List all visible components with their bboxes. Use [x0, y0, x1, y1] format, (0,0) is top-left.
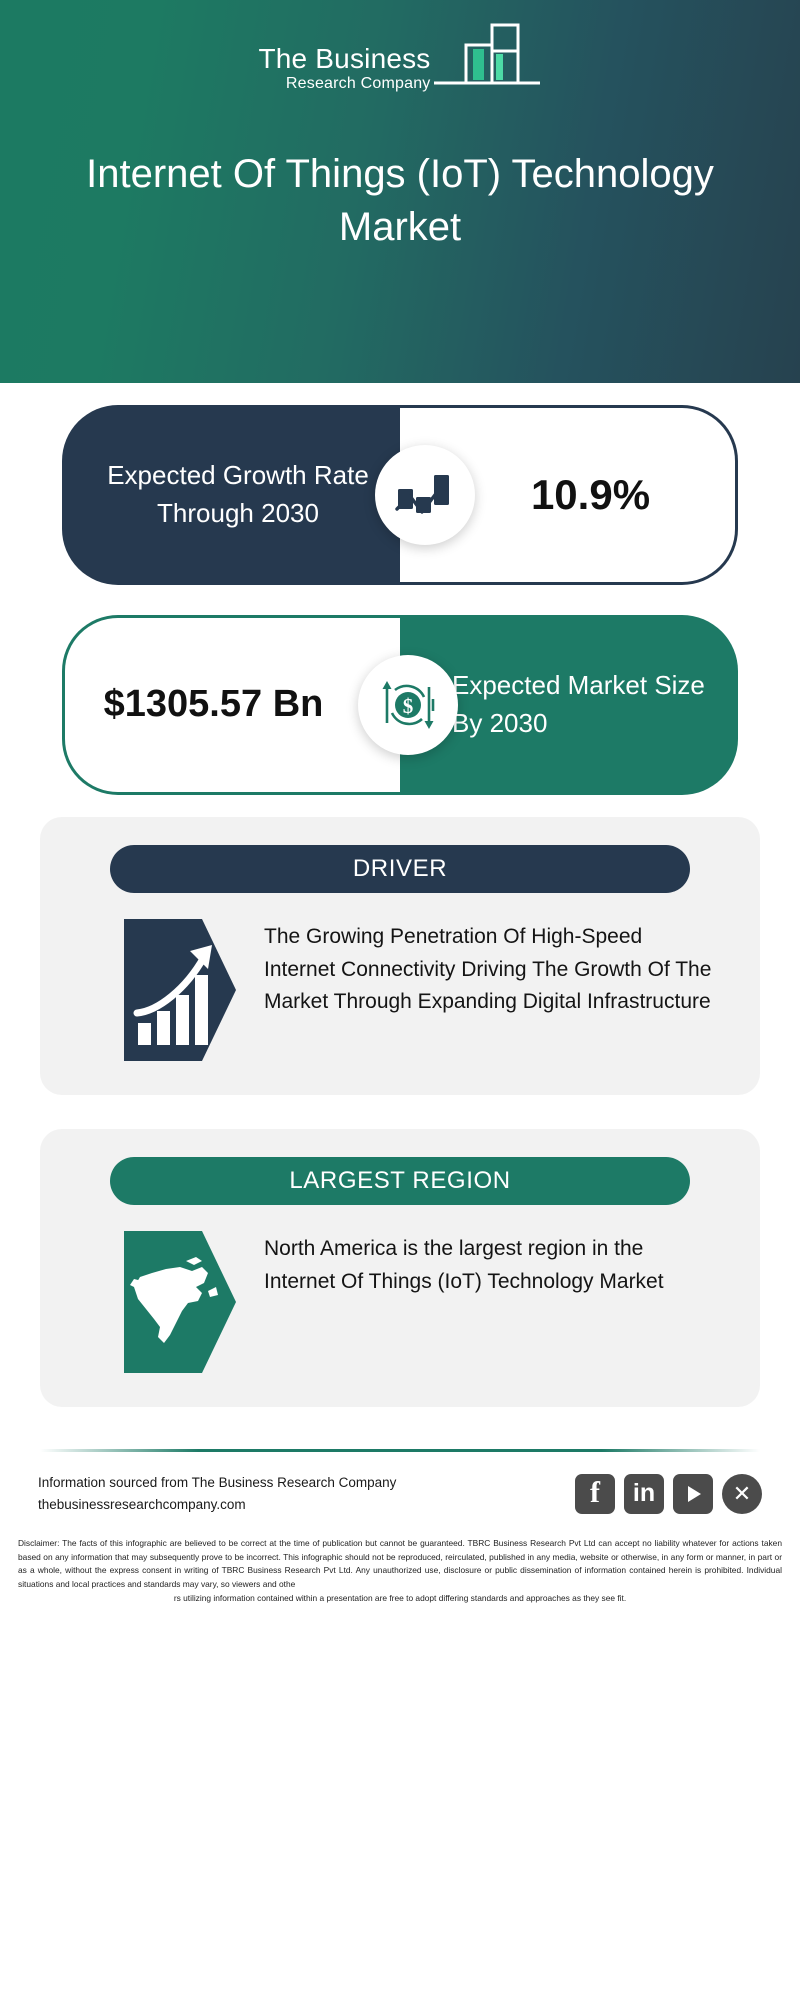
driver-text: The Growing Penetration Of High-Speed In… — [264, 919, 716, 1019]
x-twitter-icon[interactable]: ✕ — [722, 1474, 762, 1514]
growth-rate-label: Expected Growth Rate Through 2030 — [62, 405, 402, 585]
bar-chart-logo-icon — [432, 21, 542, 94]
footer-source: Information sourced from The Business Re… — [38, 1472, 396, 1515]
hero-section: The Business Research Company Internet O… — [0, 0, 800, 383]
disclaimer-main: Disclaimer: The facts of this infographi… — [18, 1538, 782, 1589]
svg-text:$: $ — [403, 694, 414, 718]
driver-tag: DRIVER — [110, 845, 690, 893]
disclaimer-last-line: rs utilizing information contained withi… — [18, 1592, 782, 1606]
disclaimer: Disclaimer: The facts of this infographi… — [10, 1537, 790, 1605]
largest-region-body: North America is the largest region in t… — [40, 1205, 760, 1373]
bar-chart-growth-arrow-icon — [375, 445, 475, 545]
stat-market-size: $1305.57 Bn Expected Market Size By 2030… — [40, 615, 760, 795]
driver-body: The Growing Penetration Of High-Speed In… — [40, 893, 760, 1061]
largest-region-tag: LARGEST REGION — [110, 1157, 690, 1205]
page-title: Internet Of Things (IoT) Technology Mark… — [70, 148, 730, 254]
footer-divider — [40, 1449, 760, 1452]
stat-growth-rate: Expected Growth Rate Through 2030 10.9% — [40, 405, 760, 585]
x-glyph: ✕ — [733, 1483, 751, 1505]
youtube-play-triangle — [688, 1486, 701, 1502]
logo-line-1: The Business — [258, 45, 430, 73]
social-links: f in ✕ — [575, 1474, 762, 1514]
growth-bar-chart-arrow-icon — [124, 919, 236, 1061]
company-logo: The Business Research Company — [258, 26, 541, 100]
footer-top: Information sourced from The Business Re… — [20, 1472, 780, 1515]
largest-region-card: LARGEST REGION North America is the larg… — [40, 1129, 760, 1407]
infographic-page: The Business Research Company Internet O… — [0, 0, 800, 2000]
linkedin-icon[interactable]: in — [624, 1474, 664, 1514]
footer-source-line-1: Information sourced from The Business Re… — [38, 1472, 396, 1494]
facebook-glyph: f — [590, 1478, 600, 1510]
north-america-map-icon — [124, 1231, 236, 1373]
dollar-circular-arrows-icon: $ — [358, 655, 458, 755]
logo-line-2: Research Company — [286, 76, 431, 92]
youtube-icon[interactable] — [673, 1474, 713, 1514]
logo-wordmark: The Business Research Company — [258, 45, 430, 100]
linkedin-glyph: in — [633, 1481, 655, 1506]
footer-source-line-2[interactable]: thebusinessresearchcompany.com — [38, 1494, 396, 1516]
market-size-value: $1305.57 Bn — [62, 615, 402, 795]
largest-region-text: North America is the largest region in t… — [264, 1231, 716, 1298]
driver-card: DRIVER The Growing Penetration Of High-S… — [40, 817, 760, 1095]
facebook-icon[interactable]: f — [575, 1474, 615, 1514]
